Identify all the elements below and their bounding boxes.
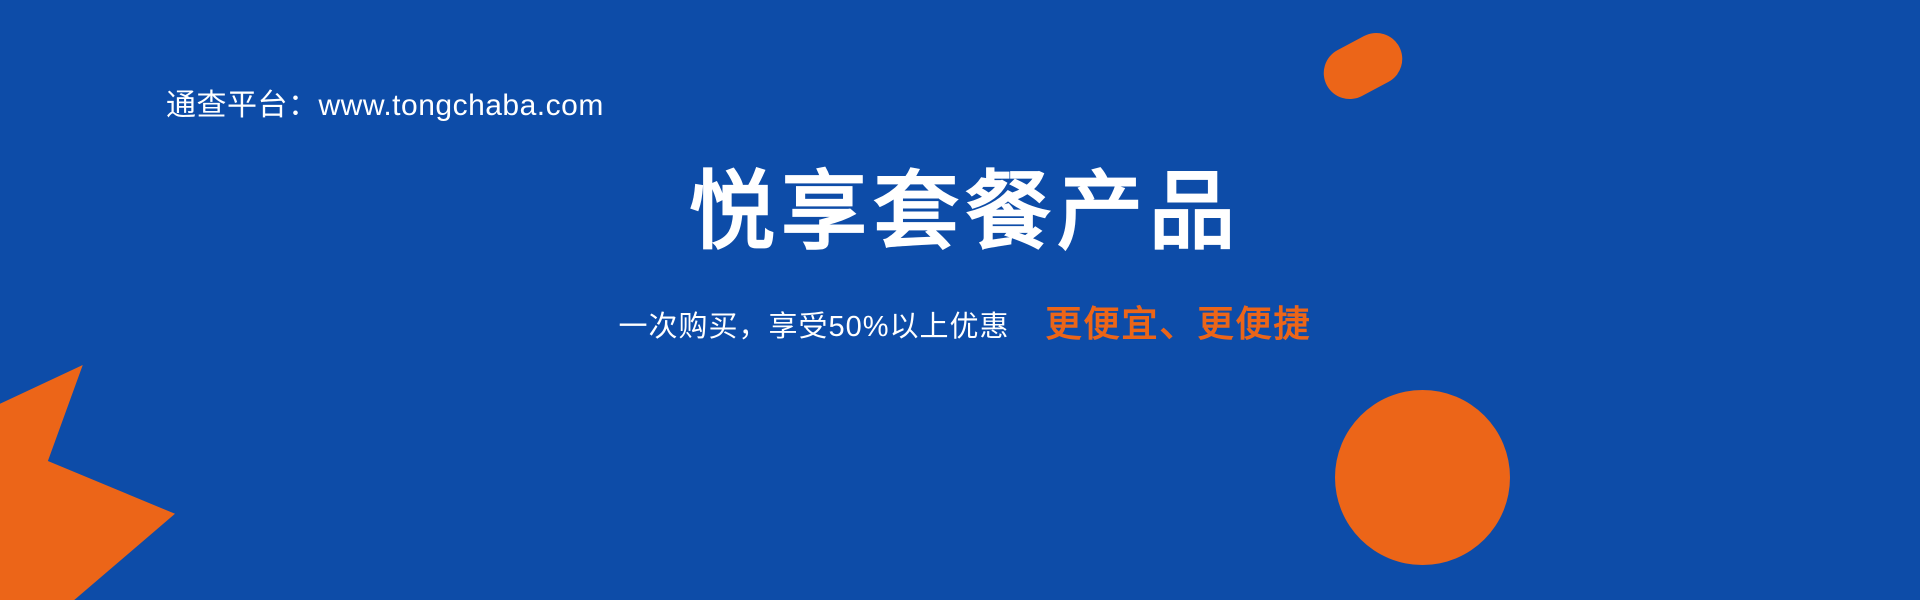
promo-banner: 通查平台：www.tongchaba.com 悦享套餐产品 一次购买，享受50%… <box>0 0 1920 600</box>
subtitle-row: 一次购买，享受50%以上优惠 更便宜、更便捷 <box>0 295 1920 347</box>
subtitle-offer-text: 一次购买，享受50%以上优惠 <box>618 303 1009 345</box>
subtitle-highlight-text: 更便宜、更便捷 <box>1046 295 1312 347</box>
site-url-line: 通查平台：www.tongchaba.com <box>166 86 604 127</box>
banner-content: 通查平台：www.tongchaba.com 悦享套餐产品 一次购买，享受50%… <box>0 0 1920 600</box>
page-title: 悦享套餐产品 <box>0 165 1920 260</box>
